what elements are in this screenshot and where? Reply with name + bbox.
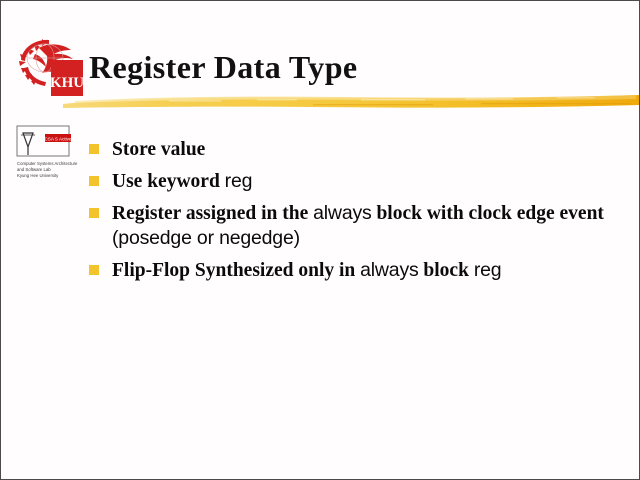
square-bullet-icon bbox=[89, 144, 99, 154]
lab-logo-mark: CSA S Active Computer Systems Architectu… bbox=[15, 125, 79, 183]
text-run: Store value bbox=[112, 139, 205, 160]
brushstroke-shape bbox=[61, 87, 640, 113]
text-run: block with clock edge event bbox=[372, 203, 604, 224]
keyword-token: reg bbox=[225, 170, 253, 192]
page-title: Register Data Type bbox=[89, 49, 358, 86]
keyword-token: always bbox=[360, 259, 418, 281]
lab-logo-badge-label: CSA S Active bbox=[44, 136, 72, 141]
list-item: Register assigned in the always block wi… bbox=[89, 201, 619, 251]
list-item: Store value bbox=[89, 137, 619, 162]
bullet-list: Store valueUse keyword regRegister assig… bbox=[89, 137, 619, 290]
square-bullet-icon bbox=[89, 208, 99, 218]
list-item: Flip-Flop Synthesized only in always blo… bbox=[89, 258, 619, 283]
lab-logo: CSA S Active Computer Systems Architectu… bbox=[15, 125, 79, 183]
text-run: block bbox=[419, 260, 474, 281]
keyword-token: always bbox=[313, 202, 371, 224]
title-underline-brushstroke bbox=[61, 87, 640, 113]
list-item-label: Flip-Flop Synthesized only in always blo… bbox=[112, 258, 619, 283]
list-item-label: Store value bbox=[112, 137, 619, 162]
lab-logo-caption-line3: Kyung Hee University bbox=[17, 173, 59, 178]
lab-logo-caption-line1: Computer Systems Architecture bbox=[17, 161, 78, 166]
slide-canvas: KHU Register Data Type bbox=[0, 0, 640, 480]
square-bullet-icon bbox=[89, 176, 99, 186]
text-run: Flip-Flop Synthesized only in bbox=[112, 260, 360, 281]
list-item-label: Use keyword reg bbox=[112, 169, 619, 194]
keyword-token: reg bbox=[474, 259, 502, 281]
square-bullet-icon bbox=[89, 265, 99, 275]
keyword-token: (posedge or negedge) bbox=[112, 227, 300, 249]
list-item: Use keyword reg bbox=[89, 169, 619, 194]
list-item-label: Register assigned in the always block wi… bbox=[112, 201, 619, 251]
text-run: Use keyword bbox=[112, 171, 225, 192]
text-run: Register assigned in the bbox=[112, 203, 313, 224]
lab-logo-caption-line2: and Software Lab bbox=[17, 167, 51, 172]
